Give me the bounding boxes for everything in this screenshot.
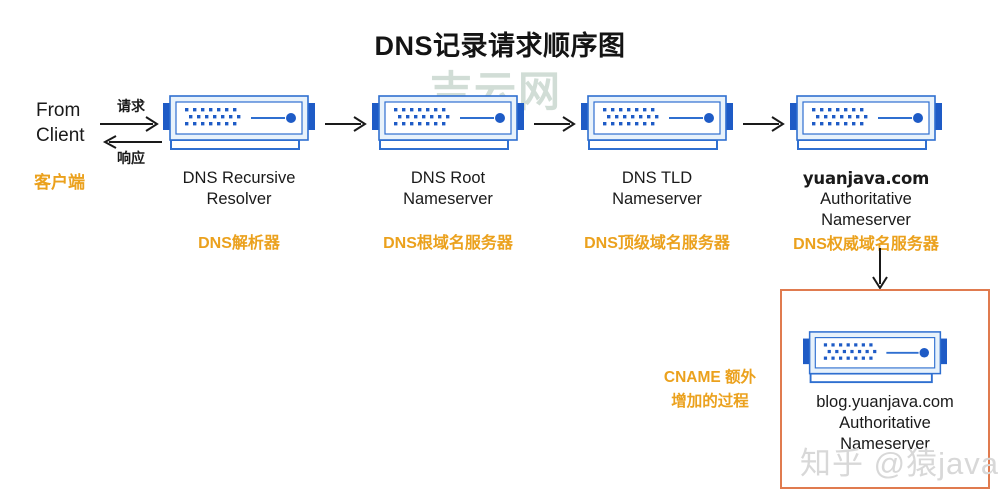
client-label-line2: Client [36, 123, 106, 148]
request-response-group: 请求 响应 [100, 96, 162, 166]
cname-note-line2: 增加的过程 [650, 390, 770, 414]
label-cn-dns-tld-nameserver: DNS顶级域名服务器 [578, 229, 736, 253]
response-label: 响应 [100, 148, 162, 168]
label-line2: Nameserver [578, 189, 736, 210]
server-icon-dns-root-nameserver[interactable] [372, 94, 524, 152]
label-dns-recursive-resolver: DNS Recursive Resolver [160, 168, 318, 210]
label-line2: Nameserver [369, 189, 527, 210]
server-icon-dns-tld-nameserver[interactable] [581, 94, 733, 152]
label-line1: DNS Recursive [160, 168, 318, 189]
label-authoritative-nameserver: yuanjava.com Authoritative Nameserver [787, 168, 945, 231]
cname-note-line1: CNAME 额外 [650, 366, 770, 390]
label-line1: blog.yuanjava.com [785, 392, 985, 413]
bottom-watermark: 知乎 @猿java [800, 438, 999, 483]
server-icon-blog-authoritative-nameserver[interactable] [803, 330, 947, 385]
label-line1: DNS TLD [578, 168, 736, 189]
arrow-down-icon [866, 248, 894, 292]
server-icon-dns-recursive-resolver[interactable] [163, 94, 315, 152]
label-dns-tld-nameserver: DNS TLD Nameserver [578, 168, 736, 210]
label-line2: Authoritative [787, 189, 945, 210]
request-response-arrows-icon [100, 115, 162, 149]
label-cn-dns-root-nameserver: DNS根域名服务器 [369, 229, 527, 253]
client-label-line1: From [36, 98, 106, 123]
client-label-cn: 客户端 [34, 168, 85, 193]
label-line1: DNS Root [369, 168, 527, 189]
label-line2: Resolver [160, 189, 318, 210]
cname-note: CNAME 额外 增加的过程 [650, 366, 770, 414]
request-label: 请求 [100, 96, 162, 116]
arrow-right-icon-2 [534, 114, 578, 134]
server-icon-authoritative-nameserver[interactable] [790, 94, 942, 152]
label-line1: yuanjava.com [787, 168, 945, 189]
label-cn-dns-recursive-resolver: DNS解析器 [160, 229, 318, 253]
label-line3: Nameserver [787, 210, 945, 231]
arrow-right-icon-3 [743, 114, 787, 134]
client-label: From Client [36, 98, 106, 148]
label-dns-root-nameserver: DNS Root Nameserver [369, 168, 527, 210]
label-line2: Authoritative [785, 413, 985, 434]
diagram-canvas: DNS记录请求顺序图 吉云网 From Client 客户端 请求 响应 [0, 0, 1000, 500]
arrow-right-icon-1 [325, 114, 369, 134]
